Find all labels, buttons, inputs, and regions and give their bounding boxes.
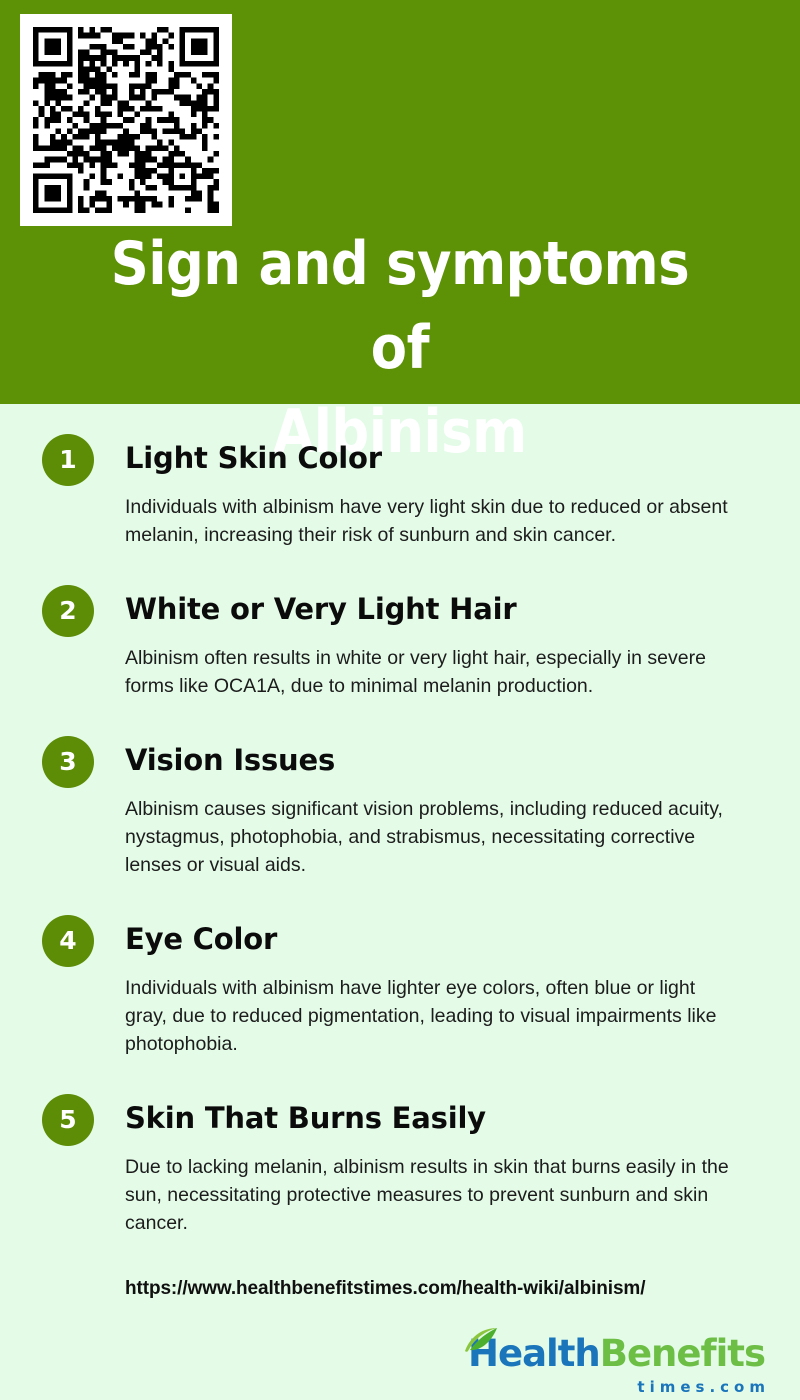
- item-title: Skin That Burns Easily: [125, 1092, 760, 1144]
- item-number-badge: 1: [42, 434, 94, 486]
- item-title: Light Skin Color: [125, 432, 760, 484]
- item-number-badge: 3: [42, 736, 94, 788]
- list-gap: [0, 885, 800, 913]
- item-description: Individuals with albinism have lighter e…: [125, 974, 730, 1058]
- brand-domain-text: times.com: [468, 1377, 770, 1397]
- brand-health-text: Health: [468, 1332, 600, 1375]
- brand-wordmark: HealthBenefits: [468, 1334, 765, 1374]
- list-item: 3 Vision Issues Albinism causes signific…: [0, 734, 800, 879]
- list-item: 2 White or Very Light Hair Albinism ofte…: [0, 583, 800, 700]
- item-description: Albinism often results in white or very …: [125, 644, 730, 700]
- item-title: Vision Issues: [125, 734, 760, 786]
- item-number-badge: 5: [42, 1094, 94, 1146]
- item-title: White or Very Light Hair: [125, 583, 760, 635]
- source-url[interactable]: https://www.healthbenefitstimes.com/heal…: [125, 1277, 645, 1301]
- qr-code[interactable]: [20, 14, 232, 226]
- item-description: Due to lacking melanin, albinism results…: [125, 1153, 730, 1237]
- brand-benefits-text: Benefits: [600, 1332, 765, 1375]
- list-top-spacer: [0, 404, 800, 432]
- item-description: Albinism causes significant vision probl…: [125, 795, 730, 879]
- item-number-badge: 2: [42, 585, 94, 637]
- item-title: Eye Color: [125, 913, 760, 965]
- symptom-list: 1 Light Skin Color Individuals with albi…: [0, 404, 800, 1243]
- header-banner: Sign and symptoms of Albinism: [0, 0, 800, 404]
- brand-logo[interactable]: HealthBenefits times.com: [468, 1334, 765, 1397]
- list-item: 4 Eye Color Individuals with albinism ha…: [0, 913, 800, 1058]
- list-gap: [0, 555, 800, 583]
- list-gap: [0, 706, 800, 734]
- list-item: 1 Light Skin Color Individuals with albi…: [0, 432, 800, 549]
- list-gap: [0, 1064, 800, 1092]
- list-item: 5 Skin That Burns Easily Due to lacking …: [0, 1092, 800, 1237]
- item-number-badge: 4: [42, 915, 94, 967]
- item-description: Individuals with albinism have very ligh…: [125, 493, 730, 549]
